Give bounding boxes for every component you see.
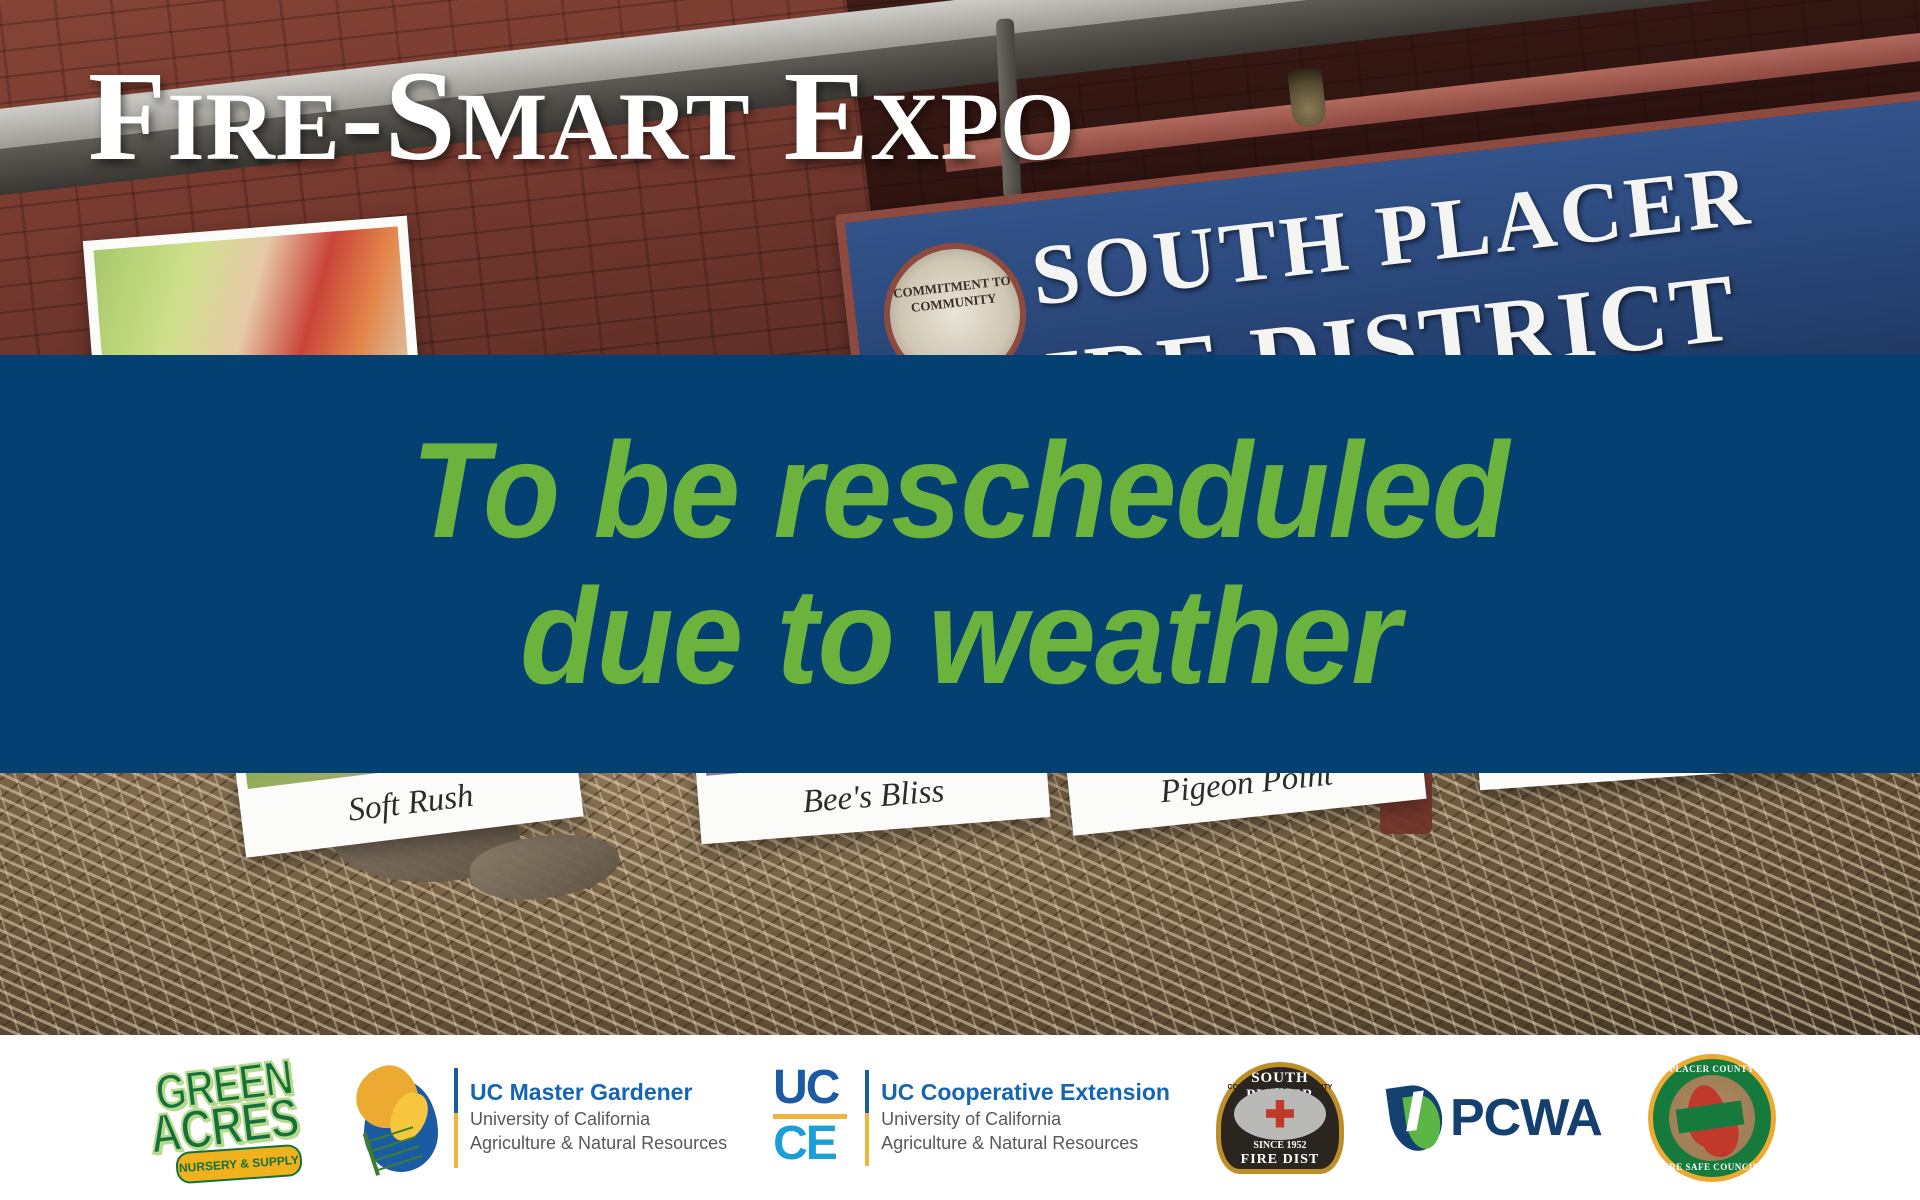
sponsor-uc-master-gardener[interactable]: UC Master Gardener University of Califor… [350,1062,727,1174]
ucce-mark-bottom: CE [773,1120,836,1168]
sponsor-south-placer-fire-district[interactable]: SOUTH PLACER COMMITMENT TO COMMUNITY SIN… [1216,1062,1344,1174]
sponsor-pcwa[interactable]: PCWA [1390,1085,1602,1151]
ucce-mark-icon: UC CE [773,1064,853,1172]
sponsor-placer-county-fire-safe-councils[interactable]: PLACER COUNTY FIRE SAFE COUNCILS [1648,1054,1776,1182]
sponsor-title: UC Cooperative Extension [881,1079,1170,1107]
title-part: MART [457,73,751,180]
sponsor-sub-2: Agriculture & Natural Resources [470,1131,727,1155]
title-part: XPO [870,73,1076,180]
ucce-mark-top: UC [773,1064,838,1112]
sponsor-green-acres[interactable]: GREEN ACRES NURSERY & SUPPLY [144,1058,304,1178]
fire-district-badge-icon: SOUTH PLACER COMMITMENT TO COMMUNITY SIN… [1216,1062,1344,1174]
banner-line-1: To be rescheduled [411,418,1508,564]
ucce-text: UC Cooperative Extension University of C… [881,1079,1170,1155]
maltese-cross-icon [1266,1100,1294,1128]
page-title: FIRE-SMART EXPO [88,52,1076,180]
wall-lamp [1287,67,1327,128]
title-part: F [88,45,167,187]
poster: COMMITMENT TO COMMUNITY SOUTH PLACER FIR… [0,0,1920,1200]
title-part: -S [341,45,457,187]
fire-safe-councils-seal-icon: PLACER COUNTY FIRE SAFE COUNCILS [1648,1054,1776,1182]
green-acres-logo-icon: GREEN ACRES NURSERY & SUPPLY [144,1058,304,1178]
logo-divider [454,1068,458,1168]
poppy-flower-icon [350,1062,442,1174]
title-part: IRE [167,73,341,180]
sponsor-sub-1: University of California [470,1107,727,1131]
badge-arc-inner: COMMITMENT TO COMMUNITY [1216,1084,1344,1091]
logo-divider [865,1070,869,1166]
badge-since: SINCE 1952 [1216,1140,1344,1151]
sponsor-sub-1: University of California [881,1107,1170,1131]
badge-bottom: FIRE DIST [1216,1152,1344,1168]
sponsor-title: UC Master Gardener [470,1079,727,1107]
uc-master-gardener-text: UC Master Gardener University of Califor… [470,1079,727,1155]
seal-arc-top: PLACER COUNTY [1653,1064,1771,1074]
banner-line-2: due to weather [520,564,1400,710]
water-droplet-icon [1390,1085,1442,1151]
title-part: E [751,45,870,187]
reschedule-banner: To be rescheduled due to weather [0,355,1920,773]
sponsor-logo-bar: GREEN ACRES NURSERY & SUPPLY UC Master G… [0,1035,1920,1200]
sponsor-uc-cooperative-extension[interactable]: UC CE UC Cooperative Extension Universit… [773,1064,1170,1172]
seal-arc-bottom: FIRE SAFE COUNCILS [1653,1162,1771,1172]
sponsor-sub-2: Agriculture & Natural Resources [881,1131,1170,1155]
pcwa-wordmark: PCWA [1450,1088,1602,1148]
sign-seal-text: COMMITMENT TO COMMUNITY [886,272,1019,319]
